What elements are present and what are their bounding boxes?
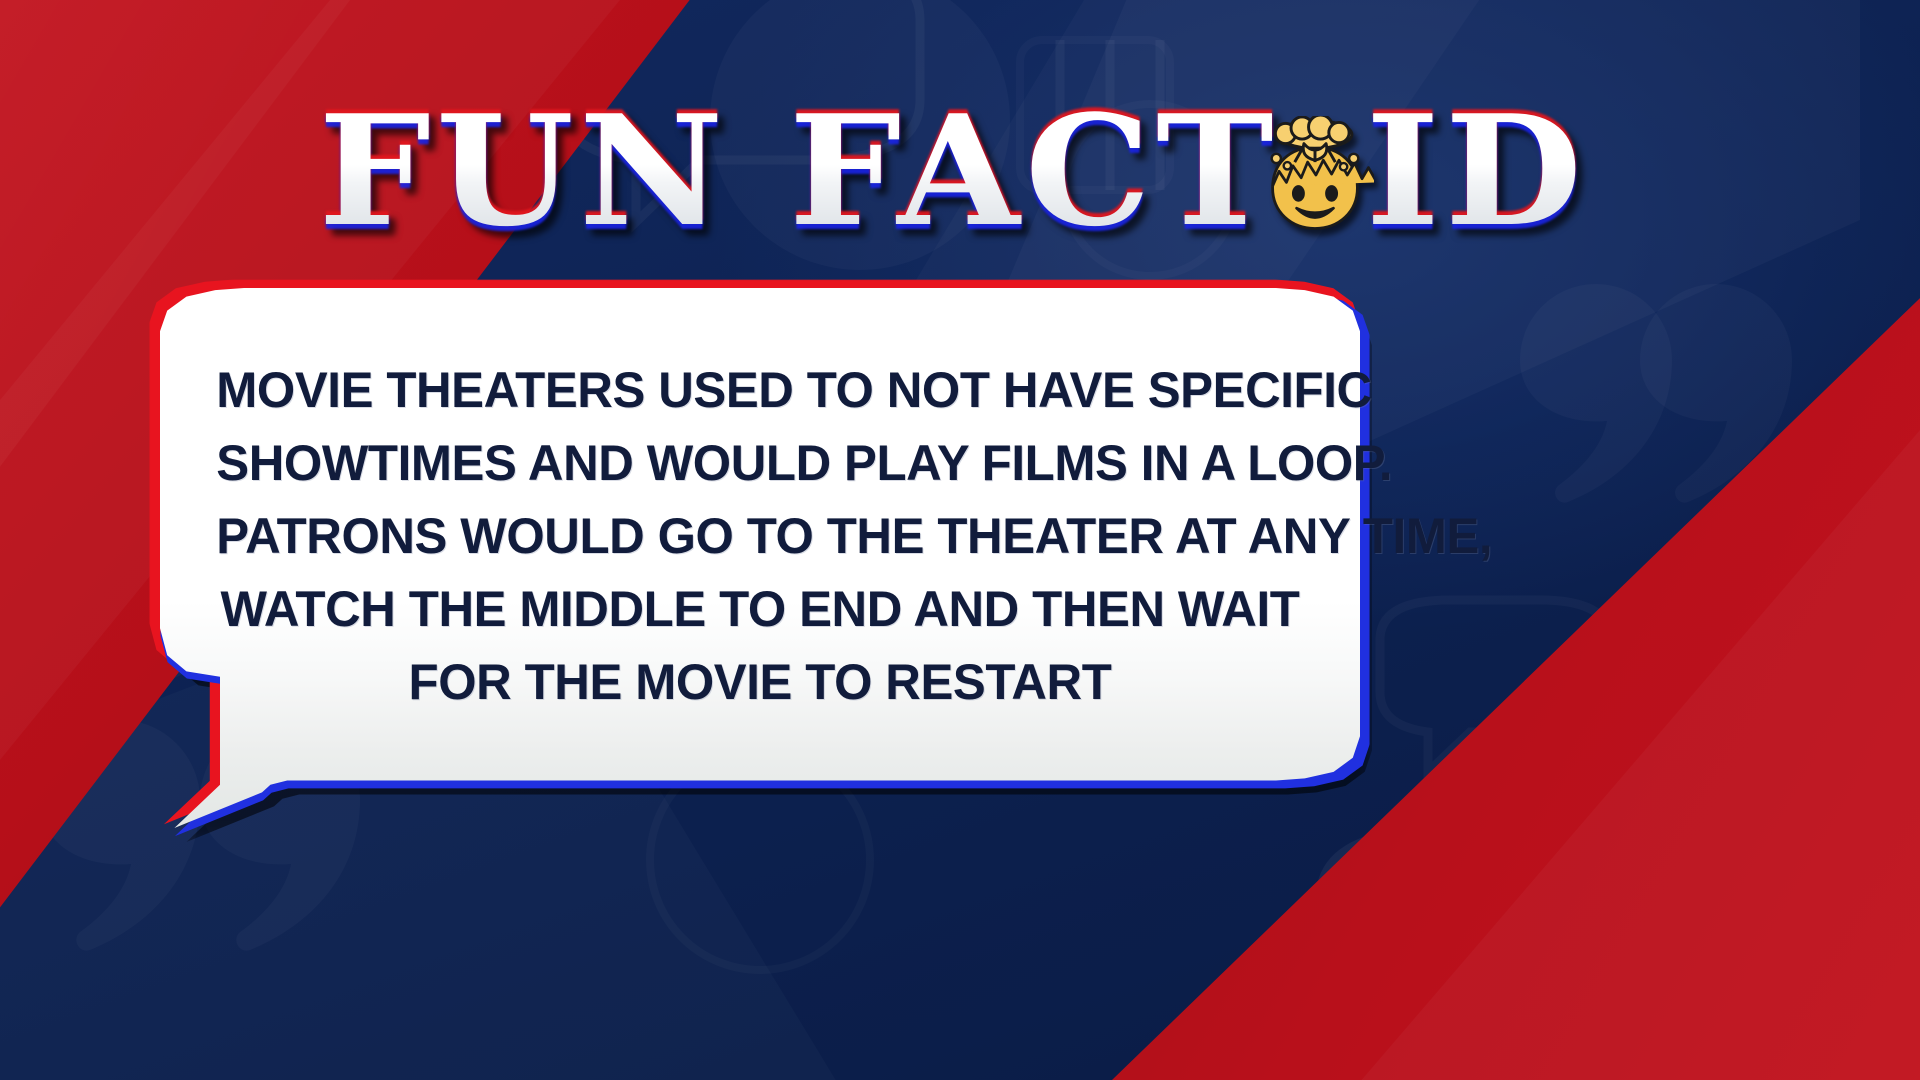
fact-text-line: SHOWTIMES AND WOULD PLAY FILMS IN A LOOP… — [216, 427, 1303, 500]
exploding-head-icon — [1256, 116, 1374, 234]
slide-canvas: FUN FACT — [0, 0, 1920, 1080]
fact-text-line: FOR THE MOVIE TO RESTART — [216, 646, 1303, 719]
title-text-left: FUN FACT — [318, 95, 1278, 247]
title-text-right: ID — [1366, 95, 1587, 247]
fact-speech-bubble: MOVIE THEATERS USED TO NOT HAVE SPECIFIC… — [160, 288, 1360, 828]
fact-text-line: MOVIE THEATERS USED TO NOT HAVE SPECIFIC — [216, 354, 1303, 427]
fact-text-line: PATRONS WOULD GO TO THE THEATER AT ANY T… — [216, 500, 1303, 573]
fact-text: MOVIE THEATERS USED TO NOT HAVE SPECIFIC… — [208, 354, 1312, 719]
page-title: FUN FACT — [0, 86, 1920, 256]
fact-text-line: WATCH THE MIDDLE TO END AND THEN WAIT — [216, 573, 1303, 646]
